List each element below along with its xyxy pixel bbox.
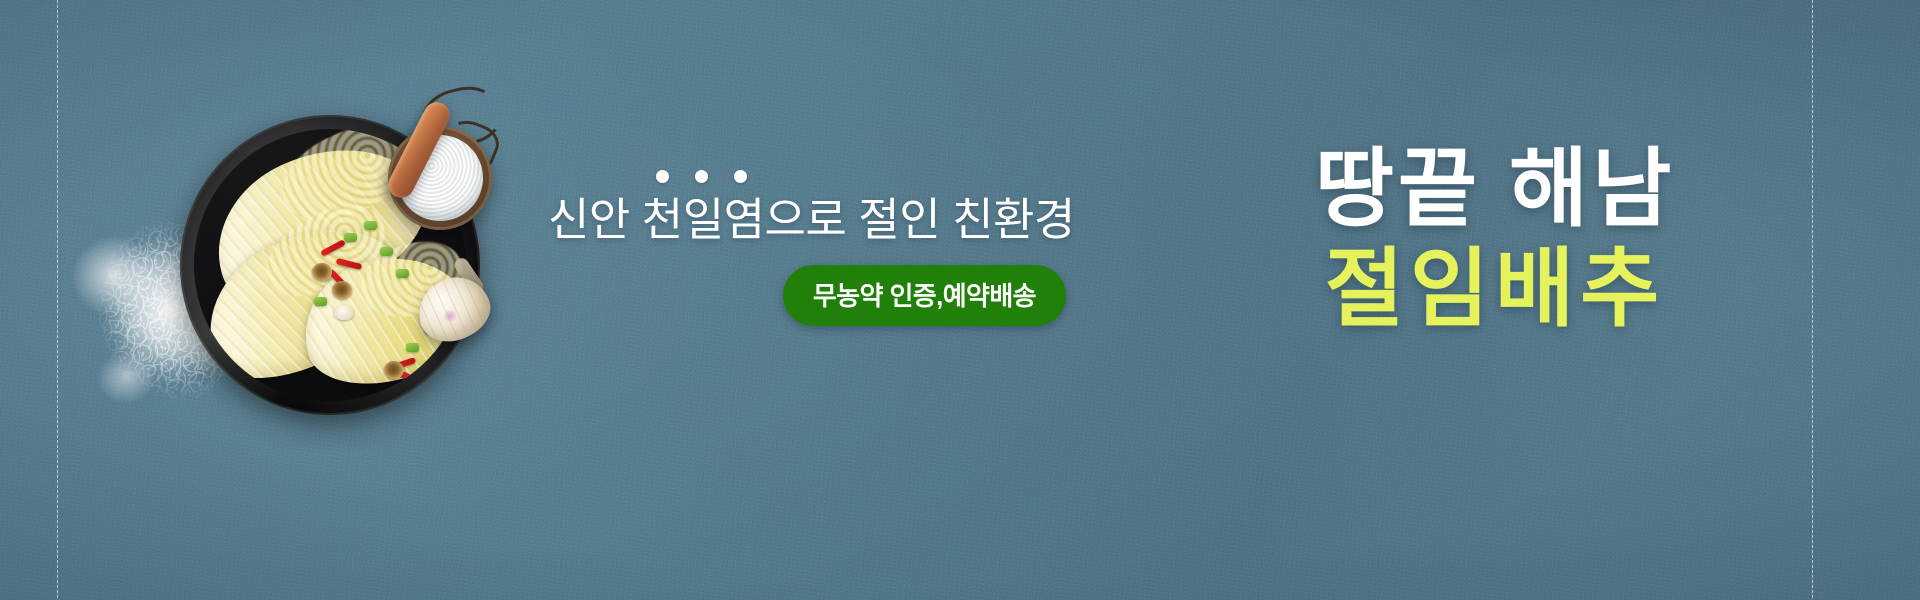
garlic-slice-garnish	[334, 305, 354, 320]
headline-line-1: 땅끝 해남	[1280, 140, 1710, 240]
vertical-guide-line-left	[57, 0, 58, 600]
scallion-garnish	[344, 233, 357, 242]
promo-banner: 신안 천일염으로 절인 친환경 무농약 인증,예약배송 땅끝 해남 절임배추	[0, 0, 1920, 600]
scallion-garnish	[364, 221, 377, 230]
dot-icon	[734, 170, 747, 183]
dot-icon	[695, 170, 708, 183]
subtitle-text: 신안 천일염으로 절인 친환경	[548, 195, 1068, 245]
certification-badge[interactable]: 무농약 인증,예약배송	[783, 265, 1066, 326]
scallion-garnish	[396, 269, 409, 278]
garlic-purple-tint	[442, 310, 458, 322]
decorative-dots	[548, 170, 1068, 183]
vertical-guide-line-right	[1812, 0, 1813, 600]
dot-icon	[656, 170, 669, 183]
pepper-ring-garnish	[312, 263, 332, 281]
scallion-garnish	[406, 343, 419, 352]
subtitle-block: 신안 천일염으로 절인 친환경 무농약 인증,예약배송	[548, 170, 1068, 326]
scallion-garnish	[380, 247, 393, 256]
scallion-garnish	[314, 297, 327, 306]
pepper-ring-garnish	[384, 361, 404, 379]
pepper-ring-garnish	[332, 281, 352, 299]
product-photo	[70, 60, 540, 480]
scallion-garnish	[440, 341, 453, 350]
badge-row: 무농약 인증,예약배송	[548, 265, 1068, 326]
headline-block: 땅끝 해남 절임배추	[1280, 140, 1710, 340]
headline-line-2: 절임배추	[1280, 240, 1710, 340]
